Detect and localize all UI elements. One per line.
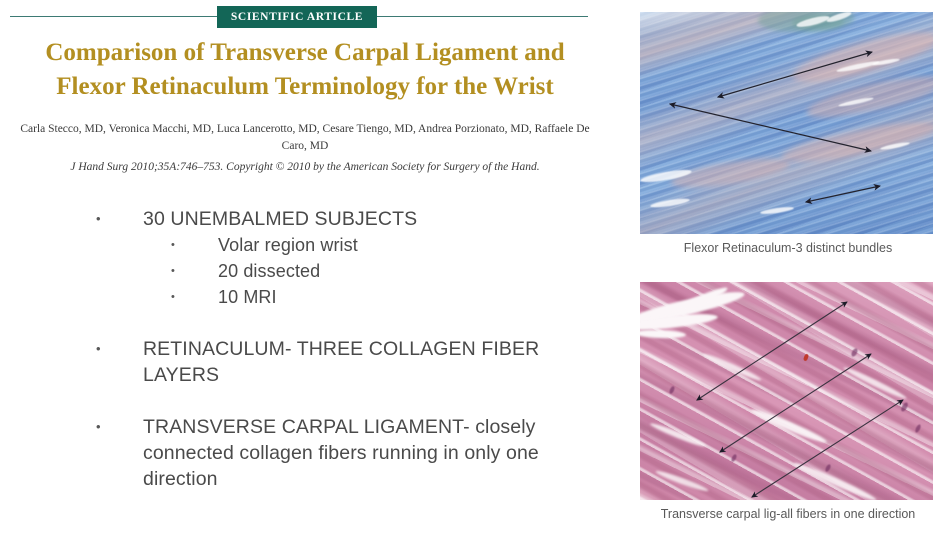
page-title: Comparison of Transverse Carpal Ligament… bbox=[15, 36, 595, 104]
list-spacer bbox=[0, 310, 600, 336]
histology-image-he bbox=[640, 282, 933, 500]
list-spacer bbox=[0, 388, 600, 414]
list-item-label: 10 MRI bbox=[218, 284, 600, 310]
figure-transverse-carpal-ligament: Transverse carpal lig-all fibers in one … bbox=[630, 282, 950, 523]
list-item: • 20 dissected bbox=[171, 258, 600, 284]
list-item-label: Volar region wrist bbox=[218, 232, 600, 258]
list-item-label: TRANSVERSE CARPAL LIGAMENT- closely conn… bbox=[143, 414, 600, 492]
list-item: • Volar region wrist bbox=[171, 232, 600, 258]
list-item-label: RETINACULUM- THREE COLLAGEN FIBER LAYERS bbox=[143, 336, 600, 388]
figure-flexor-retinaculum: Flexor Retinaculum-3 distinct bundles bbox=[630, 12, 950, 257]
bullet-marker-icon: • bbox=[96, 336, 143, 362]
bullet-marker-icon: • bbox=[171, 258, 218, 284]
list-item: • RETINACULUM- THREE COLLAGEN FIBER LAYE… bbox=[96, 336, 600, 388]
figure-caption-top: Flexor Retinaculum-3 distinct bundles bbox=[638, 240, 938, 257]
bullet-marker-icon: • bbox=[171, 232, 218, 258]
list-item-label: 20 dissected bbox=[218, 258, 600, 284]
list-item: • 30 UNEMBALMED SUBJECTS bbox=[96, 206, 600, 232]
list-item: • TRANSVERSE CARPAL LIGAMENT- closely co… bbox=[96, 414, 600, 492]
authors-list: Carla Stecco, MD, Veronica Macchi, MD, L… bbox=[15, 121, 595, 155]
figure-caption-bottom: Transverse carpal lig-all fibers in one … bbox=[638, 506, 938, 523]
bullet-marker-icon: • bbox=[96, 414, 143, 440]
figures-column: Flexor Retinaculum-3 distinct bundles bbox=[630, 0, 950, 544]
header-band: SCIENTIFIC ARTICLE bbox=[10, 5, 588, 29]
scientific-article-badge: SCIENTIFIC ARTICLE bbox=[217, 6, 377, 28]
list-item-label: 30 UNEMBALMED SUBJECTS bbox=[143, 206, 600, 232]
journal-citation: J Hand Surg 2010;35A:746–753. Copyright … bbox=[15, 161, 595, 173]
list-item: • 10 MRI bbox=[171, 284, 600, 310]
bullet-list: • 30 UNEMBALMED SUBJECTS • Volar region … bbox=[0, 206, 600, 492]
bullet-marker-icon: • bbox=[96, 206, 143, 232]
slide-text-column: SCIENTIFIC ARTICLE Comparison of Transve… bbox=[0, 0, 630, 544]
histology-image-trichrome bbox=[640, 12, 933, 234]
bullet-marker-icon: • bbox=[171, 284, 218, 310]
